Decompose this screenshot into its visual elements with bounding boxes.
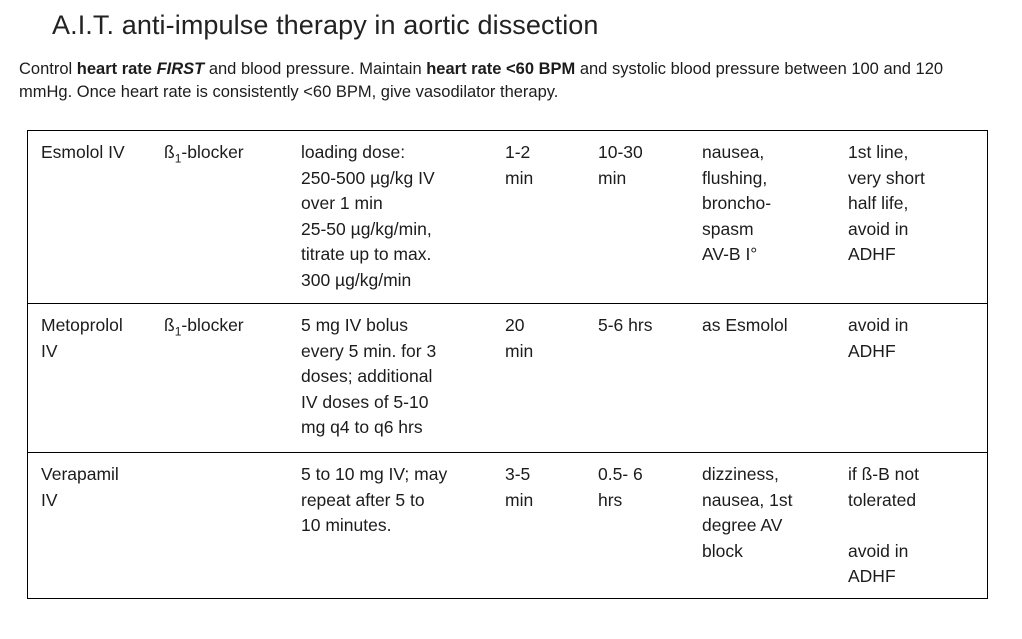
page-title: A.I.T. anti-impulse therapy in aortic di… [52,10,599,41]
subtitle-paragraph: Control heart rate FIRST and blood press… [19,58,979,104]
cell-dose: 5 to 10 mg IV; may repeat after 5 to 10 … [301,462,505,597]
cell-adverse-effects: nausea, flushing, broncho- spasm AV-B I° [702,140,848,303]
cell-drug: Esmolol IV [28,140,162,303]
cell-dose: 5 mg IV bolus every 5 min. for 3 doses; … [301,313,505,452]
cell-notes: 1st line, very short half life, avoid in… [848,140,978,303]
subtitle-segment-0: Control [19,60,77,78]
class-suffix: -blocker [181,315,243,335]
cell-class: ß1-blocker [162,140,301,303]
cell-notes: if ß-B not tolerated avoid in ADHF [848,462,978,597]
cell-adverse-effects: as Esmolol [702,313,848,452]
document-page: A.I.T. anti-impulse therapy in aortic di… [0,0,1022,639]
class-prefix: ß [164,142,175,162]
table-row: Metoprolol IV ß1-blocker 5 mg IV bolus e… [28,304,987,453]
cell-onset: 3-5 min [505,462,598,597]
table-row: Esmolol IV ß1-blocker loading dose: 250-… [28,131,987,304]
cell-drug: Metoprolol IV [28,313,162,452]
subtitle-segment-5: heart rate <60 BPM [426,60,575,78]
cell-onset: 1-2 min [505,140,598,303]
cell-notes: avoid in ADHF [848,313,978,452]
cell-class [162,462,301,597]
cell-onset: 20 min [505,313,598,452]
cell-duration: 0.5- 6 hrs [598,462,702,597]
class-suffix: -blocker [181,142,243,162]
cell-dose: loading dose: 250-500 µg/kg IV over 1 mi… [301,140,505,303]
cell-class: ß1-blocker [162,313,301,452]
cell-duration: 10-30 min [598,140,702,303]
cell-duration: 5-6 hrs [598,313,702,452]
subtitle-segment-4: and blood pressure. Maintain [204,60,426,78]
class-prefix: ß [164,315,175,335]
cell-drug: Verapamil IV [28,462,162,597]
medication-table: Esmolol IV ß1-blocker loading dose: 250-… [27,130,988,599]
table-row: Verapamil IV 5 to 10 mg IV; may repeat a… [28,453,987,597]
cell-adverse-effects: dizziness, nausea, 1st degree AV block [702,462,848,597]
subtitle-segment-3: FIRST [157,60,205,78]
subtitle-segment-1: heart rate [77,60,152,78]
